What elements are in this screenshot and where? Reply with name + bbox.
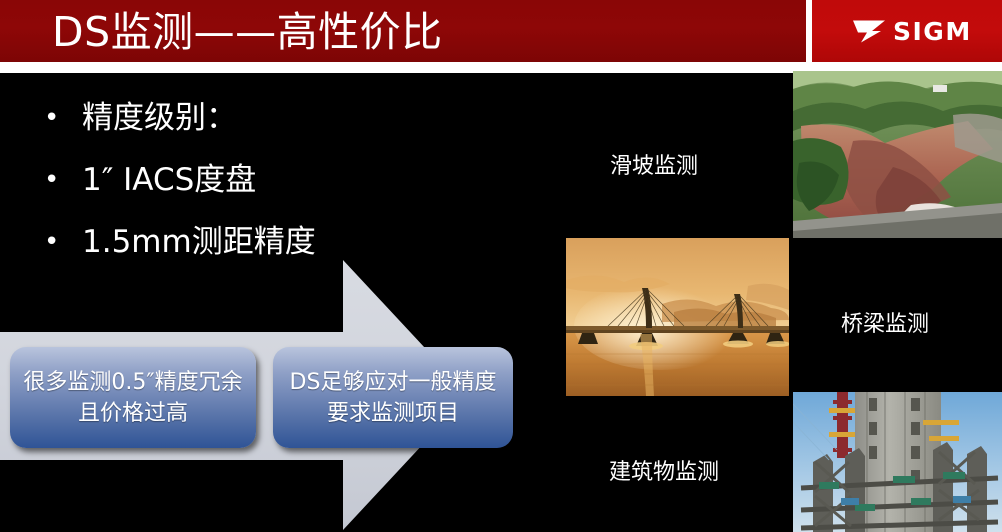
callout-text: DS足够应对一般精度要求监测项目 [273, 367, 513, 429]
callout-box-right[interactable]: DS足够应对一般精度要求监测项目 [273, 347, 513, 448]
callout-box-left[interactable]: 很多监测0.5″精度冗余且价格过高 [10, 347, 256, 448]
caption-building: 建筑物监测 [609, 454, 719, 486]
list-item: • 精度级别： [44, 96, 544, 140]
landslide-photo [793, 71, 1002, 238]
bullet-marker-icon: • [44, 158, 82, 202]
slide-canvas: DS监测——高性价比 SIGM • 精度级别： • 1″ IACS度盘 • 1.… [0, 0, 1002, 532]
list-item: • 1″ IACS度盘 [44, 158, 544, 202]
building-photo [793, 392, 1002, 532]
sigma-arrow-logo-icon [852, 19, 886, 44]
brand-name: SIGM [893, 19, 972, 44]
bullet-text: 精度级别： [82, 96, 237, 140]
bridge-photo [566, 238, 789, 396]
brand-logo[interactable]: SIGM [852, 10, 982, 52]
bullet-text: 1″ IACS度盘 [82, 158, 256, 202]
bullet-marker-icon: • [44, 96, 82, 140]
page-title: DS监测——高性价比 [52, 4, 443, 60]
caption-bridge: 桥梁监测 [841, 306, 929, 338]
callout-text: 很多监测0.5″精度冗余且价格过高 [10, 367, 256, 429]
caption-landslide: 滑坡监测 [610, 148, 698, 180]
